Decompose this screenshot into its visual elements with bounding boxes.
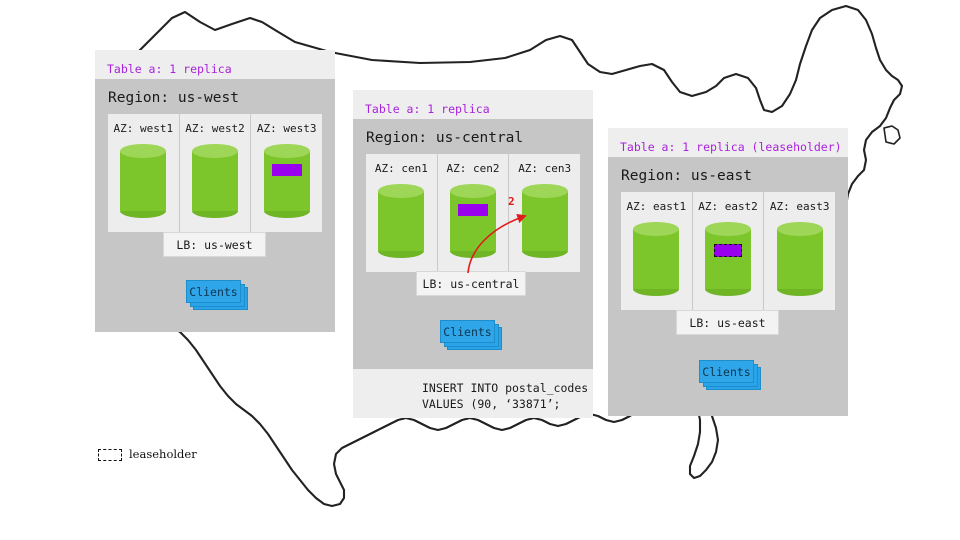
clients-stack-us-west[interactable]: Clients: [186, 280, 248, 310]
az-label-cen1: AZ: cen1: [375, 163, 428, 174]
az-west2[interactable]: AZ: west2: [179, 114, 251, 232]
az-label-cen3: AZ: cen3: [518, 163, 571, 174]
arrow-step-label-2: 2: [508, 196, 515, 207]
node-cylinder-west2[interactable]: [192, 144, 238, 218]
node-cylinder-east2[interactable]: [705, 222, 751, 296]
az-label-west1: AZ: west1: [114, 123, 174, 134]
az-east3[interactable]: AZ: east3: [763, 192, 835, 310]
az-label-east3: AZ: east3: [770, 201, 830, 212]
node-cylinder-west3[interactable]: [264, 144, 310, 218]
load-balancer-us-east[interactable]: LB: us-east: [676, 310, 779, 335]
load-balancer-us-central[interactable]: LB: us-central: [416, 271, 526, 296]
clients-label-us-central[interactable]: Clients: [440, 320, 495, 343]
node-cylinder-east1[interactable]: [633, 222, 679, 296]
az-west1[interactable]: AZ: west1: [108, 114, 179, 232]
az-label-west3: AZ: west3: [257, 123, 317, 134]
clients-stack-us-central[interactable]: Clients: [440, 320, 502, 350]
node-cylinder-west1[interactable]: [120, 144, 166, 218]
range-replica-west3[interactable]: [272, 164, 302, 176]
panel-title-us-east: Table a: 1 replica (leaseholder): [620, 142, 842, 154]
range-replica-cen2[interactable]: [458, 204, 488, 216]
diagram-canvas: Table a: 1 replica Region: us-west AZ: w…: [0, 0, 960, 540]
node-cylinder-cen3[interactable]: [522, 184, 568, 258]
sql-statement-us-central: INSERT INTO postal_codes VALUES (90, ‘33…: [422, 381, 602, 412]
range-replica-leaseholder-east2[interactable]: [714, 244, 742, 257]
az-label-east1: AZ: east1: [627, 201, 687, 212]
clients-label-us-west[interactable]: Clients: [186, 280, 241, 303]
legend-label: leaseholder: [129, 449, 197, 461]
az-east2[interactable]: AZ: east2: [692, 192, 764, 310]
az-label-west2: AZ: west2: [185, 123, 245, 134]
az-east1[interactable]: AZ: east1: [621, 192, 692, 310]
az-strip-us-central: AZ: cen1 AZ: cen2 AZ: cen3: [366, 154, 580, 272]
region-title-us-central: Region: us-central: [366, 131, 523, 146]
az-cen1[interactable]: AZ: cen1: [366, 154, 437, 272]
clients-label-us-east[interactable]: Clients: [699, 360, 754, 383]
legend-leaseholder: leaseholder: [98, 449, 197, 461]
az-label-east2: AZ: east2: [698, 201, 758, 212]
az-west3[interactable]: AZ: west3: [250, 114, 322, 232]
az-cen3[interactable]: AZ: cen3: [508, 154, 580, 272]
panel-title-us-central: Table a: 1 replica: [365, 104, 490, 116]
region-title-us-west: Region: us-west: [108, 91, 239, 106]
node-cylinder-cen2[interactable]: [450, 184, 496, 258]
dashed-rect-icon: [98, 449, 122, 461]
az-strip-us-west: AZ: west1 AZ: west2 AZ: west3: [108, 114, 322, 232]
panel-title-us-west: Table a: 1 replica: [107, 64, 232, 76]
node-cylinder-east3[interactable]: [777, 222, 823, 296]
node-cylinder-cen1[interactable]: [378, 184, 424, 258]
region-title-us-east: Region: us-east: [621, 169, 752, 184]
clients-stack-us-east[interactable]: Clients: [699, 360, 761, 390]
az-label-cen2: AZ: cen2: [447, 163, 500, 174]
az-strip-us-east: AZ: east1 AZ: east2 AZ: east3: [621, 192, 835, 310]
load-balancer-us-west[interactable]: LB: us-west: [163, 232, 266, 257]
az-cen2[interactable]: AZ: cen2: [437, 154, 509, 272]
